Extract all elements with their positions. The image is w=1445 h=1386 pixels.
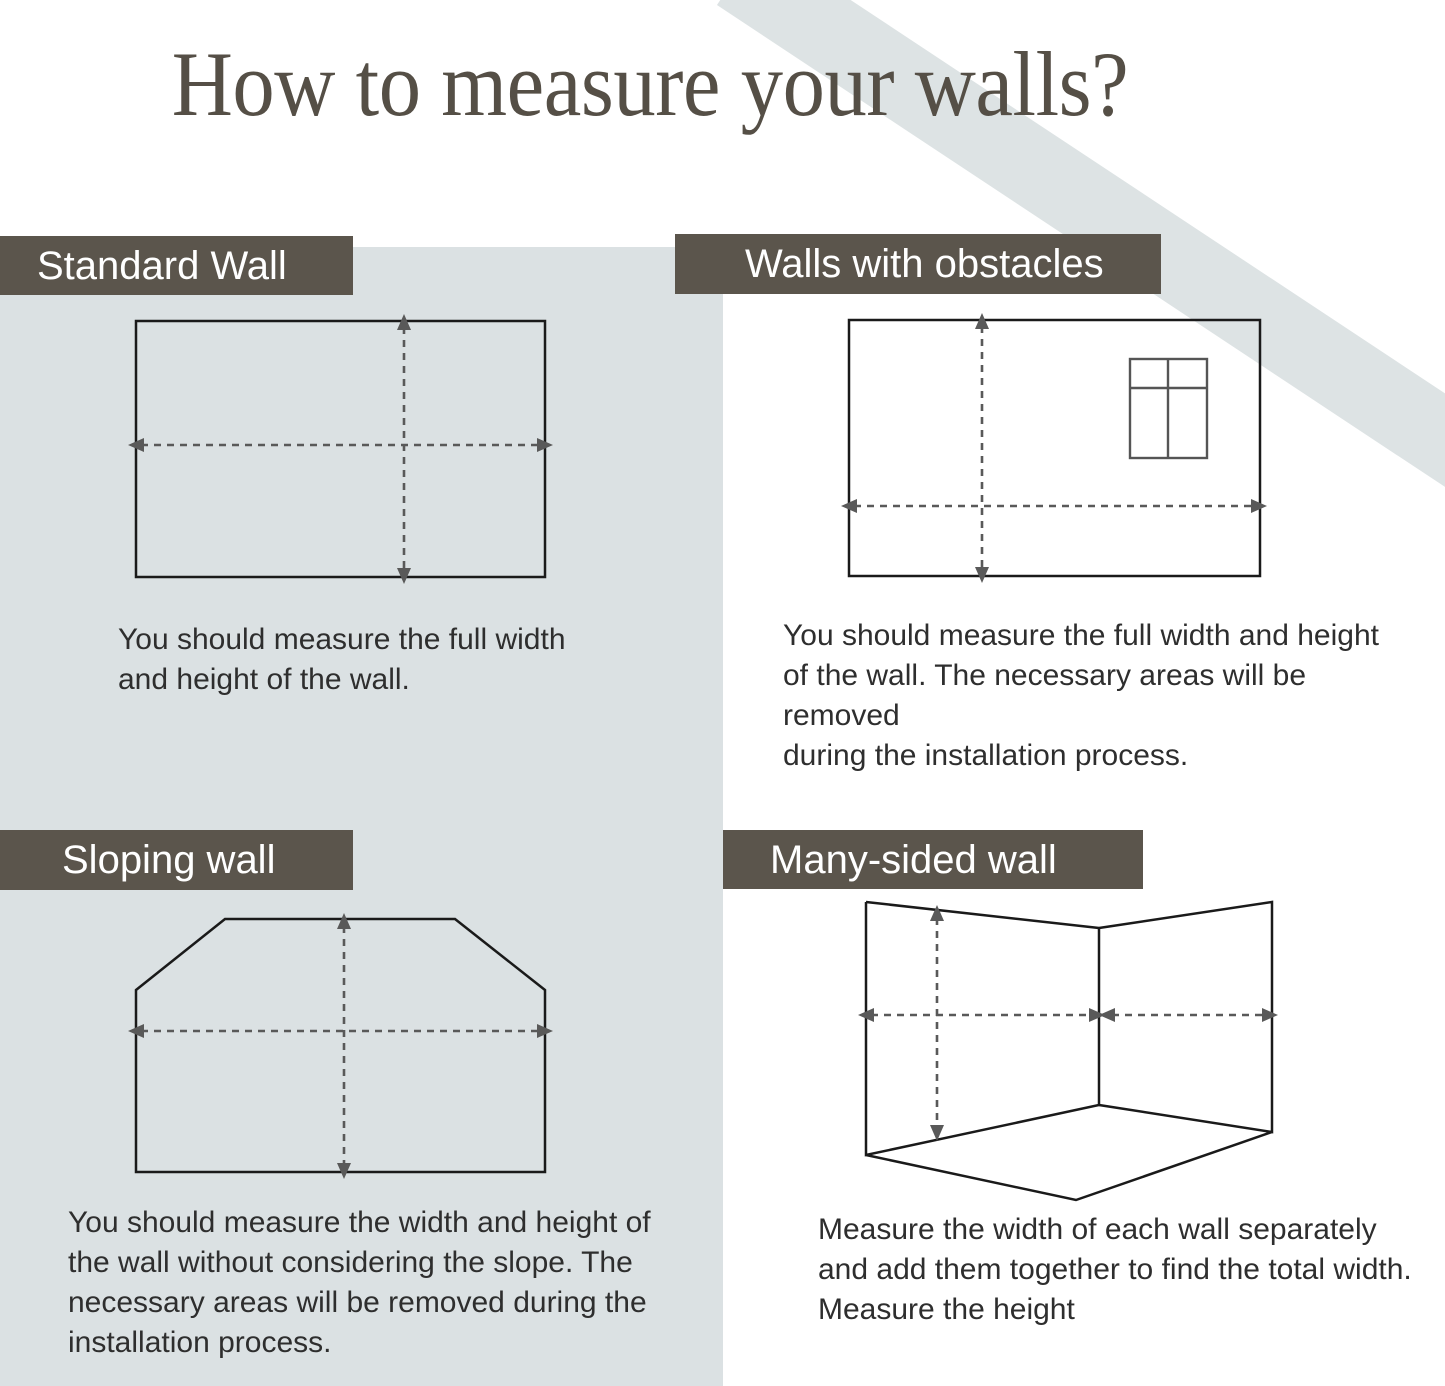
- right-wall-width-arrow-head-left: [1099, 1008, 1115, 1022]
- height-arrow-head-top: [930, 905, 944, 921]
- sloped-wall-outline: [136, 919, 545, 1172]
- section-heading-many-sided-wall: Many-sided wall: [723, 830, 1143, 889]
- section-heading-label: Standard Wall: [37, 246, 287, 286]
- caption-many-sided-wall: Measure the width of each wall separatel…: [818, 1210, 1438, 1330]
- page-title: How to measure your walls?: [52, 36, 1248, 133]
- section-heading-label: Many-sided wall: [770, 840, 1057, 880]
- diagram-standard-wall: [100, 300, 600, 600]
- section-heading-standard-wall: Standard Wall: [0, 236, 353, 295]
- caption-walls-with-obstacles: You should measure the full width and he…: [783, 616, 1423, 776]
- section-heading-label: Sloping wall: [62, 840, 275, 880]
- wall-outline-rect: [136, 321, 545, 577]
- height-arrow-head-top: [337, 913, 351, 929]
- caption-sloping-wall: You should measure the width and height …: [68, 1203, 668, 1363]
- diagram-walls-with-obstacles: [820, 300, 1300, 600]
- infographic-root: How to measure your walls? Standard Wall…: [0, 0, 1445, 1386]
- left-wall-top-edge: [866, 902, 1099, 928]
- section-heading-walls-with-obstacles: Walls with obstacles: [675, 234, 1161, 294]
- right-wall-outline: [1099, 902, 1272, 1132]
- section-heading-sloping-wall: Sloping wall: [0, 830, 353, 890]
- section-heading-label: Walls with obstacles: [745, 244, 1104, 284]
- window-obstacle-icon: [1130, 359, 1207, 458]
- diagram-sloping-wall: [100, 895, 600, 1195]
- left-wall-outline: [866, 902, 1099, 1155]
- right-wall-width-arrow-head-right: [1262, 1008, 1278, 1022]
- caption-standard-wall: You should measure the full width and he…: [118, 620, 638, 700]
- diagram-many-sided-wall: [840, 890, 1310, 1215]
